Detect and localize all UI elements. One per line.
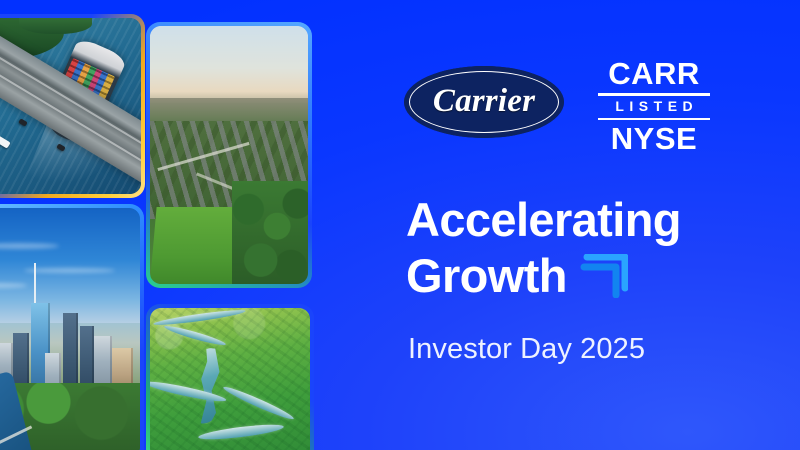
presentation-slide: Carrier CARR LISTED NYSE Accelerating Gr… [0,0,800,450]
container-ship-bridge-photo [0,14,145,198]
divider-rule-top [598,93,710,96]
headline-line-1: Accelerating [406,192,798,248]
nyse-listed-badge: CARR LISTED NYSE [598,58,710,156]
sky [0,208,140,323]
wetlands-river-photo [146,304,314,450]
wetlands-river-artwork [150,308,310,450]
sky [150,26,308,103]
tower-spire [34,263,36,303]
image-collage [0,0,320,450]
growth-arrow-icon [580,254,628,298]
green-lawn [150,207,245,284]
slide-content: Carrier CARR LISTED NYSE Accelerating Gr… [398,0,800,450]
container-ship-bridge-artwork [0,18,141,194]
suburban-neighborhood-artwork [150,26,308,284]
city-skyline-artwork [0,208,140,450]
headline-line-2: Growth [406,248,567,304]
suburban-neighborhood-photo [146,22,312,288]
page-title: Accelerating Growth [406,192,798,304]
cloud [24,268,116,273]
skyscraper [63,313,79,393]
listed-label: LISTED [598,99,710,114]
headline-line-2-row: Growth [406,248,798,304]
tree-canopy [232,181,308,284]
ticker-symbol: CARR [598,58,710,89]
divider-rule-bottom [598,118,710,121]
carrier-oval-logo: Carrier [404,66,564,138]
carrier-wordmark: Carrier [404,66,564,138]
exchange-name: NYSE [598,123,710,156]
slide-subtitle: Investor Day 2025 [408,333,645,366]
logo-row: Carrier CARR LISTED NYSE [402,52,722,156]
city-skyline-photo [0,204,144,450]
